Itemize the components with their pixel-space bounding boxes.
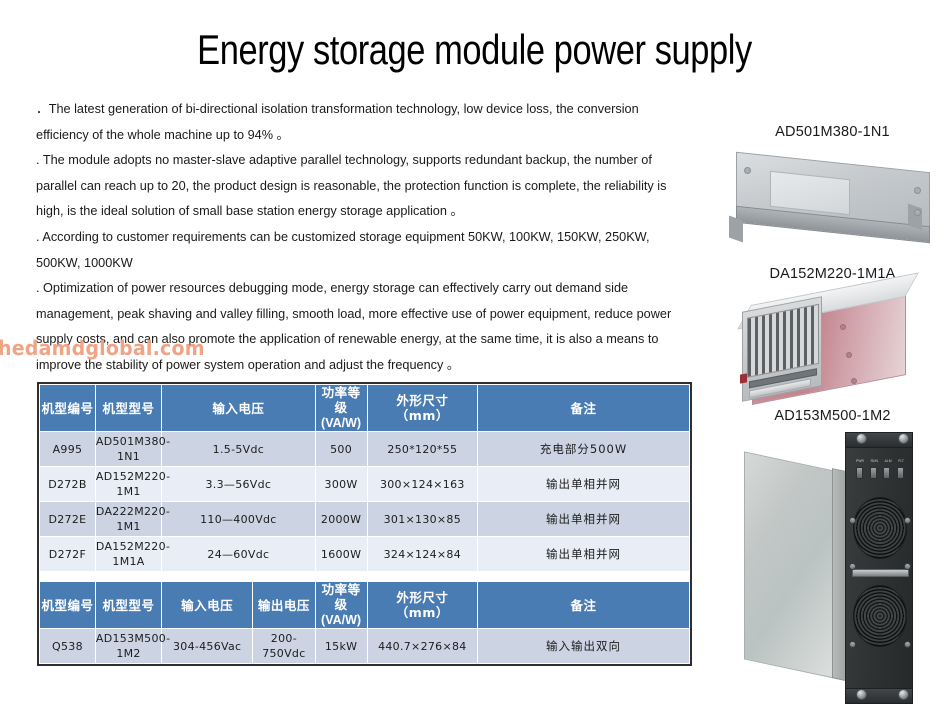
cell-dimensions: 250*120*55 — [367, 432, 478, 467]
status-led-row — [856, 467, 904, 479]
cell-power-level: 15kW — [315, 629, 367, 664]
table-row: D272B AD152M220-1M1 3.3—56Vdc 300W 300×1… — [40, 467, 690, 502]
header-cell-model-type-1: 机型型号 — [95, 385, 161, 432]
cell-power-level: 300W — [315, 467, 367, 502]
cell-input-voltage: 110—400Vdc — [162, 502, 315, 537]
cell-input-voltage: 3.3—56Vdc — [162, 467, 315, 502]
screw-icon — [851, 378, 857, 384]
table-row: D272F DA152M220-1M1A 24—60Vdc 1600W 324×… — [40, 537, 690, 572]
cell-input-voltage: 1.5-5Vdc — [162, 432, 315, 467]
specification-table-container: 机型编号 机型型号 输入电压 功率等级 (VA/W) 外形尺寸 （mm） 备注 — [37, 382, 692, 666]
header-cell-dimensions-1: 外形尺寸 （mm） — [367, 385, 478, 432]
cell-input-voltage: 304-456Vac — [162, 629, 253, 664]
cell-output-voltage: 200-750Vdc — [253, 629, 315, 664]
header-cell-dimensions-2: 外形尺寸 （mm） — [367, 582, 478, 629]
screw-icon — [849, 641, 856, 648]
flat-chassis-photo — [718, 148, 947, 258]
cell-model-type: DA222M220-1M1 — [95, 502, 161, 537]
description-paragraph-1: ．The latest generation of bi-directional… — [36, 96, 688, 147]
cell-remarks: 充电部分500W — [478, 432, 690, 467]
cell-remarks: 输入输出双向 — [478, 629, 690, 664]
table-row: Q538 AD153M500-1M2 304-456Vac 200-750Vdc… — [40, 629, 690, 664]
header-cell-power-level-1: 功率等级 (VA/W) — [315, 385, 367, 432]
table-separator-row — [40, 572, 690, 582]
table-row: D272E DA222M220-1M1 110—400Vdc 2000W 301… — [40, 502, 690, 537]
cell-remarks: 输出单相并网 — [478, 467, 690, 502]
unit-handle — [852, 569, 909, 577]
product-card-da152m220-1m1a: DA152M220-1M1A — [718, 266, 947, 402]
page-title: Energy storage module power supply — [85, 26, 863, 74]
description-paragraph-2: . The module adopts no master-slave adap… — [36, 147, 688, 224]
cell-power-level: 500 — [315, 432, 367, 467]
screw-icon — [856, 689, 867, 700]
chassis-mount-bracket-left — [729, 215, 743, 242]
cell-remarks: 输出单相并网 — [478, 502, 690, 537]
unit-side-panel — [744, 451, 844, 680]
description-block: ．The latest generation of bi-directional… — [36, 96, 688, 378]
screw-icon — [856, 433, 867, 444]
cell-model-code: D272B — [40, 467, 96, 502]
header-cell-remarks-2: 备注 — [478, 582, 690, 629]
cell-dimensions: 300×124×163 — [367, 467, 478, 502]
description-paragraph-3: . According to customer requirements can… — [36, 224, 688, 275]
led-label: FLT — [898, 459, 904, 463]
screw-icon — [744, 167, 751, 174]
ventilation-grille-icon — [747, 304, 819, 378]
screw-icon — [898, 433, 909, 444]
cell-input-voltage: 24—60Vdc — [162, 537, 315, 572]
product-card-ad501m380-1n1: AD501M380-1N1 — [718, 124, 947, 258]
cell-model-type: AD152M220-1M1 — [95, 467, 161, 502]
cell-model-type: DA152M220-1M1A — [95, 537, 161, 572]
specification-table: 机型编号 机型型号 输入电压 功率等级 (VA/W) 外形尺寸 （mm） 备注 — [39, 384, 690, 664]
status-led-icon — [856, 467, 863, 479]
cell-power-level: 1600W — [315, 537, 367, 572]
module-front-face — [742, 296, 822, 402]
cell-dimensions: 324×124×84 — [367, 537, 478, 572]
screw-icon — [914, 209, 921, 216]
status-led-icon — [897, 467, 904, 479]
cell-model-type: AD153M500-1M2 — [95, 629, 161, 664]
led-label-row: PWR RUN ALM FLT — [856, 459, 904, 463]
fan-grille-icon-bottom — [853, 585, 907, 647]
description-paragraph-4: . Optimization of power resources debugg… — [36, 275, 688, 377]
screw-icon — [846, 352, 852, 358]
product-caption: AD153M500-1M2 — [718, 408, 947, 424]
led-label: ALM — [885, 459, 892, 463]
header-cell-model-code-2: 机型编号 — [40, 582, 96, 629]
table-one-header-row: 机型编号 机型型号 输入电压 功率等级 (VA/W) 外形尺寸 （mm） 备注 — [40, 385, 690, 432]
screw-icon — [904, 563, 911, 570]
table-two-header-row: 机型编号 机型型号 输入电压 输出电压 功率等级 (VA/W) 外形尺寸 （mm — [40, 582, 690, 629]
header-cell-output-voltage-2: 输出电压 — [253, 582, 315, 629]
screw-icon — [904, 517, 911, 524]
header-cell-input-voltage-1: 输入电压 — [162, 385, 315, 432]
screw-icon — [849, 517, 856, 524]
unit-front-panel: PWR RUN ALM FLT — [845, 444, 913, 694]
header-cell-input-voltage-2: 输入电压 — [162, 582, 253, 629]
cell-model-code: D272E — [40, 502, 96, 537]
chassis-mount-bracket-right — [908, 203, 922, 230]
header-cell-power-level-2: 功率等级 (VA/W) — [315, 582, 367, 629]
cell-dimensions: 301×130×85 — [367, 502, 478, 537]
cell-model-type: AD501M380-1N1 — [95, 432, 161, 467]
header-cell-remarks-1: 备注 — [478, 385, 690, 432]
vented-rack-module-photo — [718, 290, 947, 402]
table-row: A995 AD501M380-1N1 1.5-5Vdc 500 250*120*… — [40, 432, 690, 467]
status-led-icon — [870, 467, 877, 479]
status-led-icon — [883, 467, 890, 479]
screw-icon — [849, 563, 856, 570]
led-label: RUN — [871, 459, 878, 463]
led-label: PWR — [856, 459, 864, 463]
screw-icon — [898, 689, 909, 700]
screw-icon — [904, 641, 911, 648]
module-latch-tab — [740, 373, 747, 383]
cell-dimensions: 440.7×276×84 — [367, 629, 478, 664]
tall-rack-unit-photo: PWR RUN ALM FLT — [718, 434, 947, 700]
cell-power-level: 2000W — [315, 502, 367, 537]
screw-icon — [914, 187, 921, 194]
product-card-ad153m500-1m2: AD153M500-1M2 PWR RUN ALM FLT — [718, 408, 947, 700]
cell-model-code: D272F — [40, 537, 96, 572]
header-cell-model-code-1: 机型编号 — [40, 385, 96, 432]
header-cell-model-type-2: 机型型号 — [95, 582, 161, 629]
cell-model-code: A995 — [40, 432, 96, 467]
product-caption: AD501M380-1N1 — [718, 124, 947, 140]
cell-model-code: Q538 — [40, 629, 96, 664]
fan-grille-icon-top — [853, 497, 907, 559]
slide-canvas: Energy storage module power supply ．The … — [0, 0, 949, 708]
screw-icon — [840, 324, 846, 330]
cell-remarks: 输出单相并网 — [478, 537, 690, 572]
